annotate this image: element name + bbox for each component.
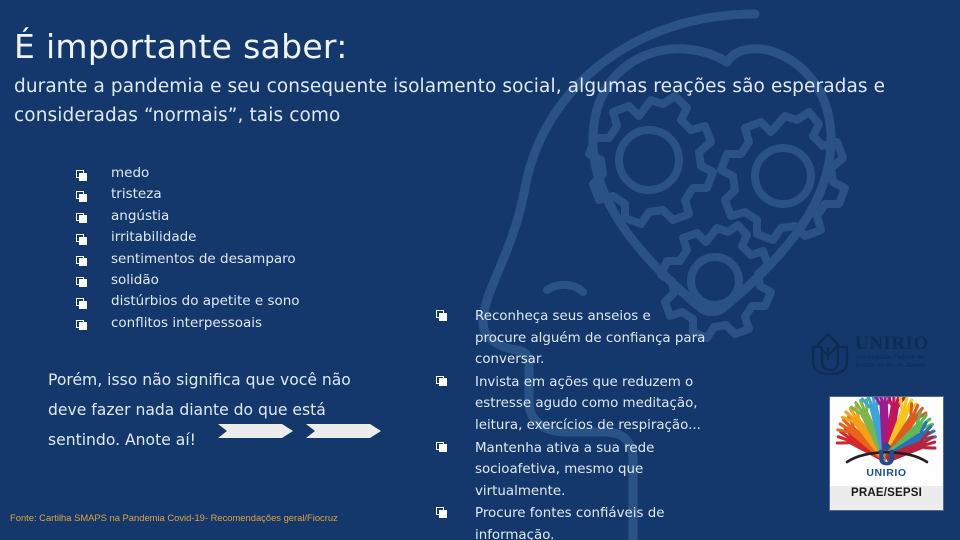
list-item-label: angústia [90,209,169,223]
list-item: Mantenha ativa a sua rede socioafetiva, … [436,438,706,503]
checkbox-square-bullet-icon [76,298,87,309]
list-item: Invista em ações que reduzem o estresse … [436,372,706,437]
list-item-label: Procure fontes confiáveis de informação. [450,503,706,540]
checkbox-square-bullet-icon [436,376,447,387]
list-item-label: tristeza [90,187,162,201]
list-item: medo [76,166,406,181]
checkbox-square-bullet-icon [436,507,447,518]
prae-unirio-word: UNIRIO [830,467,943,479]
checkbox-square-bullet-icon [76,213,87,224]
svg-text:UNIRIO: UNIRIO [855,333,929,354]
svg-text:Universidade Federal do: Universidade Federal do [856,354,924,361]
list-item: angústia [76,209,406,224]
list-item-label: sentimentos de desamparo [90,252,296,266]
svg-text:Estado do Rio de Janeiro: Estado do Rio de Janeiro [856,362,926,369]
recommendations-list: Reconheça seus anseios e procure alguém … [436,306,706,540]
list-item: conflitos interpessoais [76,316,406,331]
list-item-label: solidão [90,273,159,287]
list-item-label: conflitos interpessoais [90,316,262,330]
checkbox-square-bullet-icon [436,310,447,321]
checkbox-square-bullet-icon [76,320,87,331]
list-item: Procure fontes confiáveis de informação. [436,503,706,540]
list-item: tristeza [76,187,406,202]
checkbox-square-bullet-icon [76,256,87,267]
list-item: Reconheça seus anseios e procure alguém … [436,306,706,371]
slide-canvas: É importante saber: durante a pandemia e… [0,0,960,540]
page-title: É importante saber: [14,26,894,68]
title-block: É importante saber: durante a pandemia e… [14,26,894,130]
list-item: distúrbios do apetite e sono [76,294,406,309]
list-item-label: irritabilidade [90,230,196,244]
reactions-list: medotristezaangústiairritabilidadesentim… [76,166,406,337]
chevron-arrow-group [218,424,383,442]
list-item-label: distúrbios do apetite e sono [90,294,300,308]
page-subtitle: durante a pandemia e seu consequente iso… [14,72,894,130]
chevron-arrow-2-icon [306,424,381,438]
unirio-logo: UNIRIO Universidade Federal do Estado do… [808,329,948,375]
list-item-label: Mantenha ativa a sua rede socioafetiva, … [450,438,706,503]
chevron-arrow-1-icon [218,424,293,438]
list-item-label: Invista em ações que reduzem o estresse … [450,372,706,437]
checkbox-square-bullet-icon [76,277,87,288]
source-note: Fonte: Cartilha SMAPS na Pandemia Covid-… [10,512,390,525]
list-item: irritabilidade [76,230,406,245]
checkbox-square-bullet-icon [76,191,87,202]
checkbox-square-bullet-icon [76,170,87,181]
unirio-prae-sepsi-logo: UNIRIO PRAE/SEPSI [830,397,943,510]
list-item-label: medo [90,166,149,180]
list-item-label: Reconheça seus anseios e procure alguém … [450,306,706,371]
list-item: solidão [76,273,406,288]
checkbox-square-bullet-icon [436,442,447,453]
checkbox-square-bullet-icon [76,234,87,245]
prae-sepsi-word: PRAE/SEPSI [830,487,943,499]
list-item: sentimentos de desamparo [76,252,406,267]
